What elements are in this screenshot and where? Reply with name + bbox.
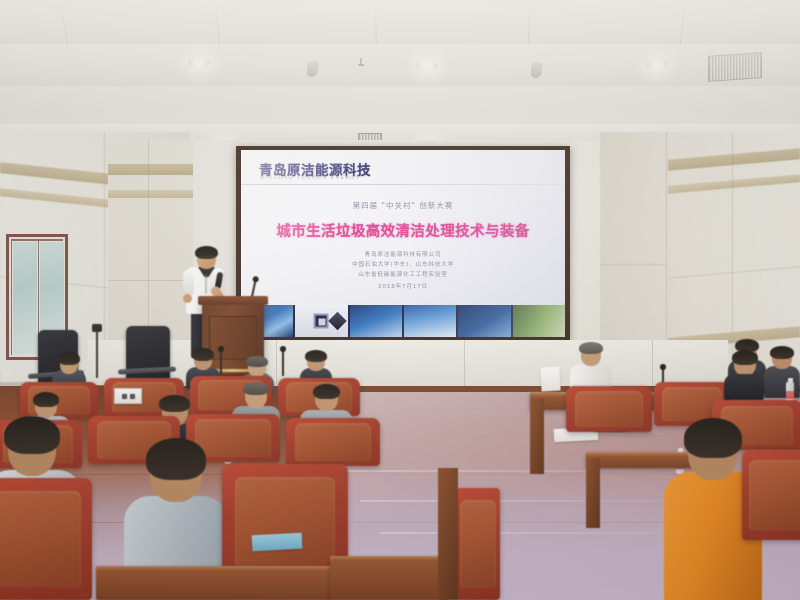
ceiling-upper-slab <box>0 0 800 46</box>
auditorium-seat <box>456 488 500 600</box>
slide-affiliation-1: 青岛原洁能源科技有限公司 <box>241 250 565 258</box>
person-hair <box>313 384 340 399</box>
person-hair <box>770 346 794 359</box>
projection-screen: 青岛原洁能源科技 QINGDAO YUANJIE ENERGY 第四届 "中关村… <box>236 146 570 342</box>
podium-top-surface <box>198 296 268 305</box>
desk-papers <box>252 533 303 552</box>
filmstrip-image-offshore-vessel <box>350 305 402 337</box>
audience-member <box>764 346 800 396</box>
filmstrip-image-turbine-equipment <box>404 305 456 337</box>
microchip-icon <box>314 314 329 329</box>
person-hair <box>33 392 59 407</box>
presenter-shirt-placket <box>205 274 207 294</box>
slide-affiliation-2: 中国石油大学(华东)、山东科技大学 <box>241 260 565 268</box>
person-hair <box>159 395 190 412</box>
person-hair <box>579 342 603 354</box>
held-paper <box>540 367 560 392</box>
person-hair <box>4 416 60 454</box>
auditorium-seat <box>566 386 652 432</box>
audience-desk <box>96 566 336 600</box>
audience-member <box>724 352 764 398</box>
ceiling-air-vent <box>708 52 762 82</box>
auditorium-seat <box>0 478 92 600</box>
ceiling-downlight <box>646 59 668 70</box>
slide-main-title: 城市生活垃圾高效清洁处理技术与装备 <box>241 220 565 241</box>
person-hair <box>732 350 758 365</box>
person-hair <box>246 356 268 367</box>
presenter-left-sleeve <box>183 270 194 296</box>
desk-side-panel <box>530 398 544 474</box>
company-logo-subtitle: QINGDAO YUANJIE ENERGY <box>260 175 360 181</box>
person-hair <box>684 418 742 458</box>
ceiling-downlight <box>416 60 438 71</box>
person-hair <box>192 348 214 361</box>
ceiling-middle-panel <box>0 86 800 128</box>
slide-image-filmstrip <box>241 305 565 337</box>
presenter-left-hand <box>183 294 192 303</box>
desk-side-panel <box>438 468 458 600</box>
eyeglasses <box>200 256 215 260</box>
desk-side-panel <box>586 458 600 528</box>
person-hair <box>58 352 80 365</box>
filmstrip-image-microchip <box>295 305 347 337</box>
slide-affiliation-3: 山东省低碳能源化工工程实验室 <box>241 270 565 278</box>
sprinkler-head <box>360 58 362 65</box>
auditorium-seat <box>286 418 380 466</box>
filmstrip-image-green-field <box>513 305 565 337</box>
slide-date: 2018年7月17日 <box>241 282 565 290</box>
audience-desk <box>330 556 450 600</box>
diamond-shape-icon <box>328 312 346 330</box>
desk-microphone <box>282 350 284 376</box>
ceiling-downlight <box>188 57 210 68</box>
logo-divider <box>241 184 565 185</box>
auditorium-seat <box>742 450 800 540</box>
conference-hall-scene: 青岛原洁能源科技 QINGDAO YUANJIE ENERGY 第四届 "中关村… <box>0 0 800 600</box>
camera-tripod <box>96 330 98 378</box>
person-hair <box>243 382 269 395</box>
person-hair <box>305 350 327 362</box>
name-card <box>114 388 142 404</box>
person-body <box>764 366 800 398</box>
person-hair <box>146 438 206 480</box>
office-chair <box>126 326 170 384</box>
slide-event-line: 第四届 "中关村" 创新大赛 <box>241 200 565 211</box>
slide-content: 青岛原洁能源科技 QINGDAO YUANJIE ENERGY 第四届 "中关村… <box>241 150 565 337</box>
filmstrip-image-industrial-plant <box>458 305 510 337</box>
person-body <box>724 374 764 400</box>
desk-microphone <box>220 350 222 374</box>
